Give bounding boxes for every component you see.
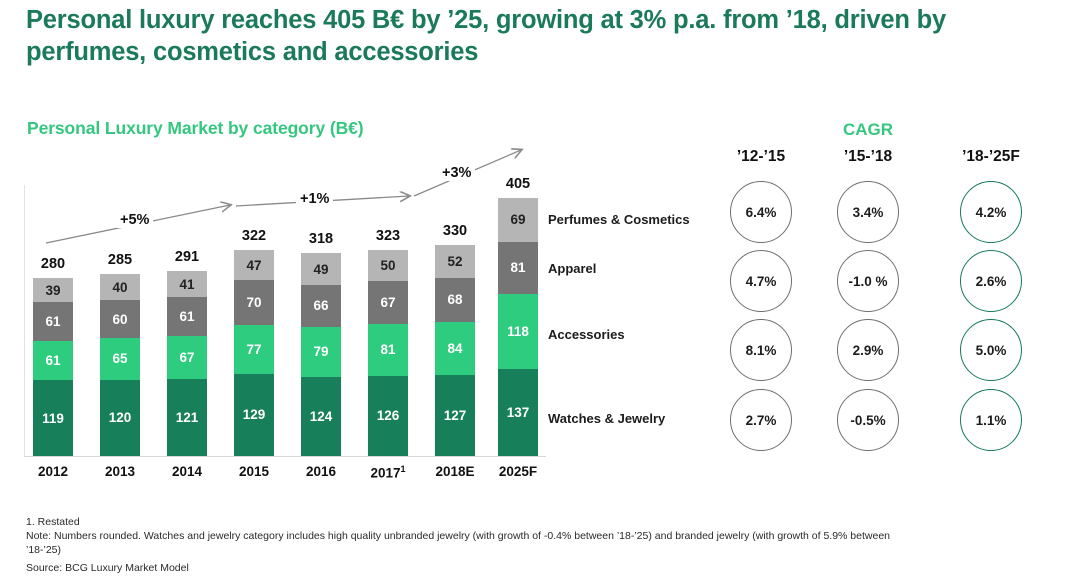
bar-total-label: 318	[291, 231, 351, 247]
bar-segment-acc[interactable]: 77	[234, 325, 274, 374]
y-axis-line	[24, 185, 25, 456]
growth-annotation-1: +5%	[116, 212, 153, 228]
cagr-circle-r1-c1[interactable]: 6.4%	[730, 181, 792, 243]
bar-segment-acc[interactable]: 65	[100, 338, 140, 379]
bar-segment-wj[interactable]: 124	[301, 377, 341, 456]
category-label-apparel: Apparel	[548, 261, 596, 276]
cagr-column-header-1: ’12-’15	[701, 148, 821, 166]
bar-total-label: 405	[488, 176, 548, 192]
cagr-circle-r3-c3[interactable]: 5.0%	[960, 319, 1022, 381]
bar-segment-app[interactable]: 70	[234, 280, 274, 325]
bar-segment-acc[interactable]: 118	[498, 294, 538, 369]
growth-arrows	[0, 0, 560, 500]
bar-total-label: 323	[358, 228, 418, 244]
x-axis-label-2016: 2016	[286, 464, 356, 479]
x-axis-label-2018E: 2018E	[420, 464, 490, 479]
cagr-circle-r4-c2[interactable]: -0.5%	[837, 389, 899, 451]
x-axis-label-2017: 20171	[353, 464, 423, 481]
bar-total-label: 330	[425, 223, 485, 239]
bar-segment-acc[interactable]: 79	[301, 327, 341, 377]
x-axis-line	[24, 456, 546, 457]
bar-segment-pc[interactable]: 52	[435, 245, 475, 278]
bar-segment-wj[interactable]: 127	[435, 375, 475, 456]
cagr-circle-r1-c2[interactable]: 3.4%	[837, 181, 899, 243]
bar-segment-app[interactable]: 60	[100, 300, 140, 338]
x-axis-label-2012: 2012	[18, 464, 88, 479]
bar-segment-app[interactable]: 66	[301, 285, 341, 327]
bar-segment-app[interactable]: 61	[167, 297, 207, 336]
bar-segment-acc[interactable]: 84	[435, 322, 475, 376]
bar-segment-wj[interactable]: 137	[498, 369, 538, 456]
bar-segment-pc[interactable]: 47	[234, 250, 274, 280]
bar-segment-wj[interactable]: 119	[33, 380, 73, 456]
x-axis-label-2013: 2013	[85, 464, 155, 479]
bar-segment-acc[interactable]: 61	[33, 341, 73, 380]
bar-segment-wj[interactable]: 129	[234, 374, 274, 456]
stacked-bar-chart: +5% +1% +3% 1196161392802012120656040285…	[0, 0, 560, 500]
bar-total-label: 280	[23, 256, 83, 272]
growth-annotation-3: +3%	[438, 165, 475, 181]
bar-segment-app[interactable]: 81	[498, 242, 538, 294]
bar-total-label: 285	[90, 252, 150, 268]
category-label-perfumes-cosmetics: Perfumes & Cosmetics	[548, 212, 690, 227]
x-axis-label-2015: 2015	[219, 464, 289, 479]
bar-segment-pc[interactable]: 39	[33, 278, 73, 303]
bar-total-label: 291	[157, 249, 217, 265]
bar-segment-app[interactable]: 68	[435, 278, 475, 321]
bar-segment-wj[interactable]: 120	[100, 380, 140, 456]
bar-segment-app[interactable]: 67	[368, 281, 408, 324]
slide-root: Personal luxury reaches 405 B€ by ’25, g…	[0, 0, 1080, 576]
cagr-circle-r4-c3[interactable]: 1.1%	[960, 389, 1022, 451]
category-label-accessories: Accessories	[548, 327, 625, 342]
footnote-source: Source: BCG Luxury Market Model	[26, 562, 189, 576]
bar-total-label: 322	[224, 228, 284, 244]
bar-segment-pc[interactable]: 40	[100, 274, 140, 299]
footnote-restated: 1. Restated	[26, 516, 80, 530]
bar-segment-acc[interactable]: 67	[167, 336, 207, 379]
cagr-circle-r1-c3[interactable]: 4.2%	[960, 181, 1022, 243]
x-axis-label-2014: 2014	[152, 464, 222, 479]
bar-segment-app[interactable]: 61	[33, 302, 73, 341]
bar-segment-pc[interactable]: 50	[368, 250, 408, 282]
cagr-column-header-2: ’15-’18	[808, 148, 928, 166]
x-axis-label-2025F: 2025F	[483, 464, 553, 479]
cagr-circle-r2-c2[interactable]: -1.0 %	[837, 250, 899, 312]
cagr-circle-r3-c1[interactable]: 8.1%	[730, 319, 792, 381]
bar-segment-pc[interactable]: 69	[498, 198, 538, 242]
bar-segment-wj[interactable]: 121	[167, 379, 207, 456]
category-label-watches-jewelry: Watches & Jewelry	[548, 411, 665, 426]
bar-segment-pc[interactable]: 49	[301, 253, 341, 284]
footnote-note: Note: Numbers rounded. Watches and jewel…	[26, 530, 906, 558]
growth-annotation-2: +1%	[296, 191, 333, 207]
cagr-circle-r2-c3[interactable]: 2.6%	[960, 250, 1022, 312]
cagr-circle-r3-c2[interactable]: 2.9%	[837, 319, 899, 381]
bar-segment-acc[interactable]: 81	[368, 324, 408, 376]
bar-segment-wj[interactable]: 126	[368, 376, 408, 456]
cagr-heading: CAGR	[836, 120, 900, 140]
cagr-circle-r2-c1[interactable]: 4.7%	[730, 250, 792, 312]
cagr-circle-r4-c1[interactable]: 2.7%	[730, 389, 792, 451]
bar-segment-pc[interactable]: 41	[167, 271, 207, 297]
cagr-column-header-3: ’18-’25F	[931, 148, 1051, 166]
